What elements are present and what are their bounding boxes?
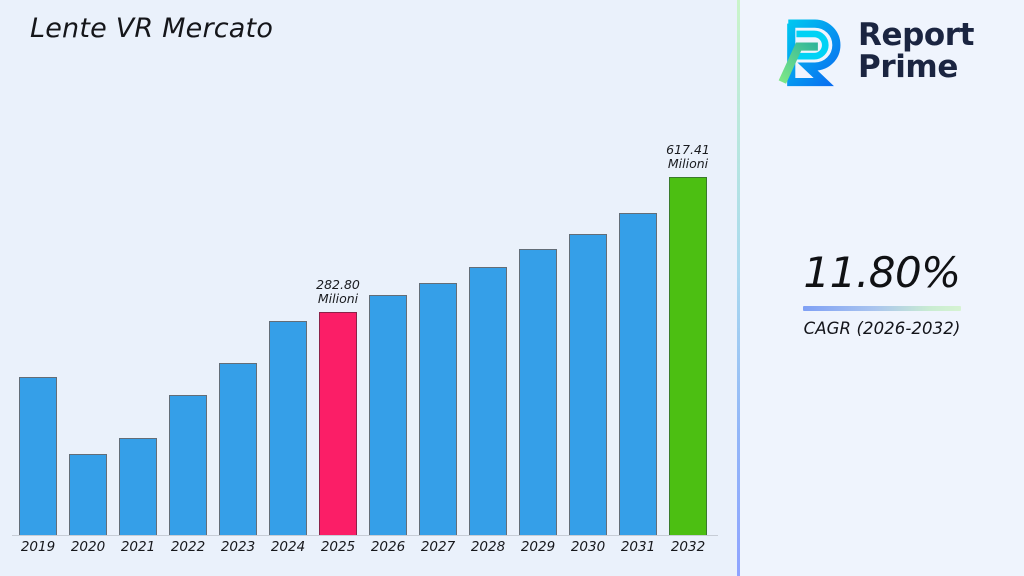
x-axis-tick-2019: 2019: [13, 539, 63, 555]
bar-2022[interactable]: [169, 395, 207, 535]
x-axis-tick-2025: 2025: [313, 539, 363, 555]
cagr-value: 11.80%: [740, 252, 1024, 294]
cagr-caption: CAGR (2026-2032): [740, 319, 1024, 338]
bar-unit-2032: Milioni: [666, 157, 710, 172]
bar-2031[interactable]: [619, 213, 657, 535]
x-axis-tick-2024: 2024: [263, 539, 313, 555]
x-axis-line: [12, 535, 718, 536]
bar-value-2025: 282.80: [316, 278, 360, 293]
bar-2025[interactable]: 282.80Milioni: [319, 312, 357, 535]
bar-value-2032: 617.41: [666, 143, 710, 158]
bar-chart-plot-area: 201920202021202220232024282.80Milioni202…: [0, 0, 738, 576]
brand-wordmark: Report Prime: [858, 19, 974, 83]
bar-2020[interactable]: [69, 454, 107, 535]
x-axis-tick-2022: 2022: [163, 539, 213, 555]
bar-rect-2031[interactable]: [619, 213, 657, 535]
cagr-block: 11.80% CAGR (2026-2032): [740, 252, 1024, 338]
bar-2021[interactable]: [119, 438, 157, 535]
bar-2032[interactable]: 617.41Milioni: [669, 177, 707, 535]
bar-2027[interactable]: [419, 283, 457, 535]
bar-rect-2025[interactable]: [319, 312, 357, 535]
x-axis-tick-2026: 2026: [363, 539, 413, 555]
bar-rect-2027[interactable]: [419, 283, 457, 535]
brand-name-line2: Prime: [858, 51, 974, 83]
x-axis-tick-2028: 2028: [463, 539, 513, 555]
x-axis-tick-2020: 2020: [63, 539, 113, 555]
bar-rect-2030[interactable]: [569, 234, 607, 535]
x-axis-tick-2029: 2029: [513, 539, 563, 555]
bar-rect-2032[interactable]: [669, 177, 707, 535]
cagr-divider-rule: [803, 306, 961, 311]
bar-rect-2026[interactable]: [369, 295, 407, 535]
bar-rect-2022[interactable]: [169, 395, 207, 535]
chart-panel: Lente VR Mercato 20192020202120222023202…: [0, 0, 738, 576]
bar-2030[interactable]: [569, 234, 607, 535]
bar-2024[interactable]: [269, 321, 307, 535]
x-axis-tick-2030: 2030: [563, 539, 613, 555]
bar-rect-2028[interactable]: [469, 267, 507, 535]
brand-panel: Report Prime 11.80% CAGR (2026-2032): [740, 0, 1024, 576]
x-axis-tick-2023: 2023: [213, 539, 263, 555]
report-prime-logo-icon: [772, 14, 846, 88]
bar-rect-2023[interactable]: [219, 363, 257, 535]
bar-rect-2029[interactable]: [519, 249, 557, 535]
bar-2023[interactable]: [219, 363, 257, 535]
brand-logo: Report Prime: [772, 14, 974, 88]
bar-value-label-2032: 617.41Milioni: [666, 143, 710, 173]
x-axis-tick-2032: 2032: [663, 539, 713, 555]
bar-unit-2025: Milioni: [316, 292, 360, 307]
bar-rect-2021[interactable]: [119, 438, 157, 535]
bar-rect-2019[interactable]: [19, 377, 57, 535]
brand-name-line1: Report: [858, 17, 974, 53]
slide-root: Lente VR Mercato 20192020202120222023202…: [0, 0, 1024, 576]
bar-rect-2020[interactable]: [69, 454, 107, 535]
x-axis-tick-2021: 2021: [113, 539, 163, 555]
bar-2019[interactable]: [19, 377, 57, 535]
bar-2026[interactable]: [369, 295, 407, 535]
x-axis-tick-2031: 2031: [613, 539, 663, 555]
x-axis-tick-2027: 2027: [413, 539, 463, 555]
bar-2029[interactable]: [519, 249, 557, 535]
bar-2028[interactable]: [469, 267, 507, 535]
bar-rect-2024[interactable]: [269, 321, 307, 535]
bar-value-label-2025: 282.80Milioni: [316, 278, 360, 308]
